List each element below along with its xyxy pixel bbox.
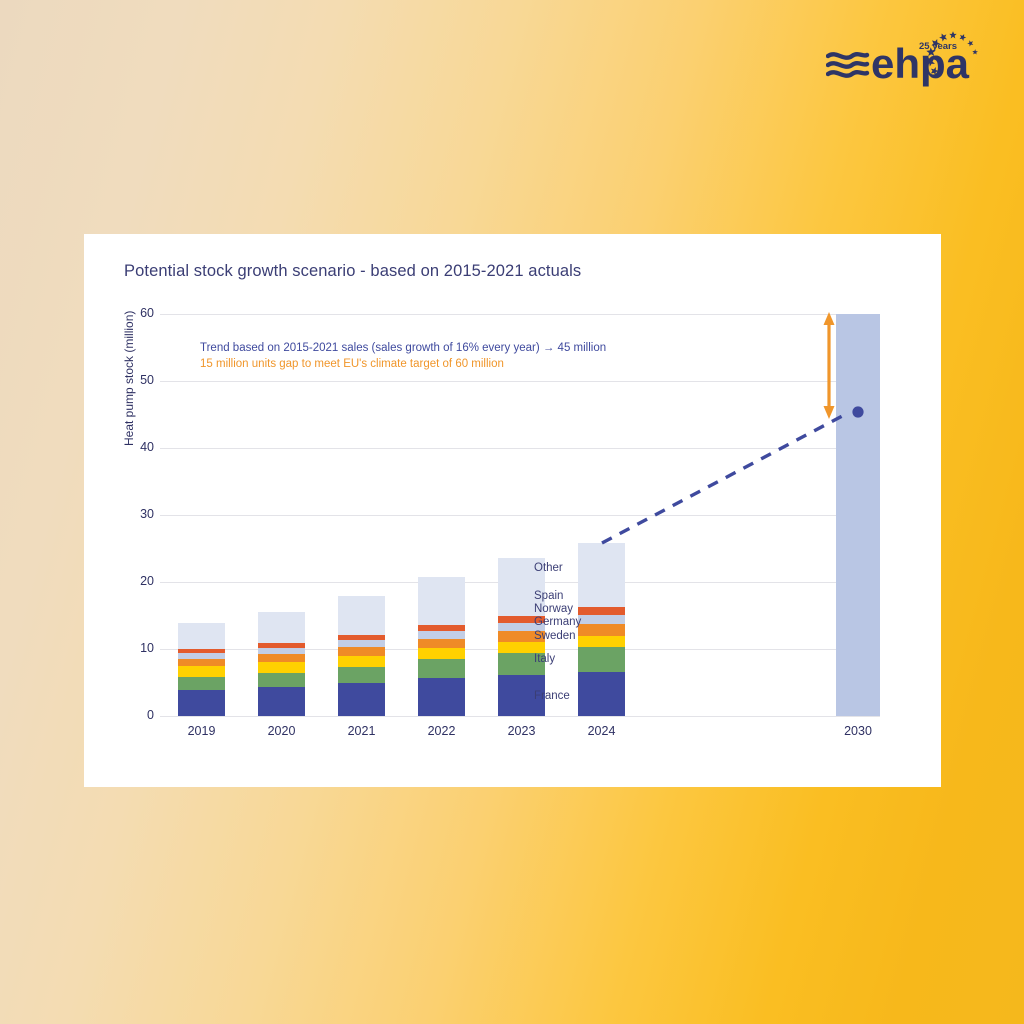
bar-2022 bbox=[418, 577, 465, 716]
segment-italy bbox=[258, 673, 305, 687]
x-tick-2024: 2024 bbox=[578, 724, 625, 738]
gridline-50 bbox=[160, 381, 880, 382]
bar-2021 bbox=[338, 596, 385, 716]
segment-sweden bbox=[338, 656, 385, 667]
chart-plot-area: Heat pump stock (million) 60 50 40 30 20… bbox=[84, 234, 941, 787]
legend-label-germany: Germany bbox=[534, 616, 581, 628]
x-tick-2021: 2021 bbox=[338, 724, 385, 738]
x-tick-2023: 2023 bbox=[498, 724, 545, 738]
legend-label-italy: Italy bbox=[534, 653, 555, 665]
y-tick-60: 60 bbox=[120, 306, 154, 320]
segment-france bbox=[178, 690, 225, 716]
bar-2019 bbox=[178, 623, 225, 716]
bar-2024 bbox=[578, 543, 625, 716]
segment-italy bbox=[418, 659, 465, 678]
segment-france bbox=[418, 678, 465, 716]
segment-france bbox=[258, 687, 305, 716]
ehpa-logo-svg: ehpa 25 years bbox=[826, 26, 984, 90]
segment-other bbox=[338, 596, 385, 635]
x-tick-2022: 2022 bbox=[418, 724, 465, 738]
x-tick-2019: 2019 bbox=[178, 724, 225, 738]
segment-sweden bbox=[578, 636, 625, 647]
segment-sweden bbox=[498, 642, 545, 653]
legend-label-other: Other bbox=[534, 562, 563, 574]
gridline-60 bbox=[160, 314, 880, 315]
wave-icon bbox=[828, 54, 867, 76]
annotation-trend: Trend based on 2015-2021 sales (sales gr… bbox=[200, 342, 606, 354]
y-tick-0: 0 bbox=[120, 708, 154, 722]
page-background: ehpa 25 years Potential stock bbox=[0, 0, 1024, 1024]
legend-label-sweden: Sweden bbox=[534, 630, 576, 642]
gridline-30 bbox=[160, 515, 880, 516]
gap-arrow bbox=[824, 312, 835, 419]
segment-france bbox=[578, 672, 625, 716]
y-tick-10: 10 bbox=[120, 641, 154, 655]
segment-spain bbox=[578, 607, 625, 615]
trend-line bbox=[602, 414, 846, 543]
segment-other bbox=[178, 623, 225, 649]
legend-label-norway: Norway bbox=[534, 603, 573, 615]
segment-france bbox=[338, 683, 385, 716]
segment-norway bbox=[418, 631, 465, 639]
y-tick-30: 30 bbox=[120, 507, 154, 521]
segment-germany bbox=[178, 659, 225, 666]
segment-sweden bbox=[418, 648, 465, 659]
segment-germany bbox=[418, 639, 465, 648]
segment-sweden bbox=[258, 662, 305, 673]
segment-other bbox=[418, 577, 465, 625]
gridline-0 bbox=[160, 716, 880, 717]
logo-anniversary: 25 years bbox=[919, 41, 957, 52]
segment-germany bbox=[338, 647, 385, 656]
chart-card: Potential stock growth scenario - based … bbox=[84, 234, 941, 787]
x-tick-2030: 2030 bbox=[836, 724, 880, 738]
x-tick-2020: 2020 bbox=[258, 724, 305, 738]
segment-italy bbox=[338, 667, 385, 683]
segment-norway bbox=[338, 640, 385, 647]
annotation-gap: 15 million units gap to meet EU's climat… bbox=[200, 358, 504, 370]
segment-italy bbox=[178, 677, 225, 690]
gridline-40 bbox=[160, 448, 880, 449]
y-tick-20: 20 bbox=[120, 574, 154, 588]
legend-label-spain: Spain bbox=[534, 590, 563, 602]
segment-sweden bbox=[178, 666, 225, 677]
segment-germany bbox=[578, 624, 625, 636]
y-tick-50: 50 bbox=[120, 373, 154, 387]
segment-other bbox=[258, 612, 305, 643]
segment-norway bbox=[578, 615, 625, 624]
segment-italy bbox=[578, 647, 625, 672]
legend-label-france: France bbox=[534, 690, 570, 702]
ehpa-logo: ehpa 25 years bbox=[826, 26, 984, 90]
segment-other bbox=[578, 543, 625, 607]
y-tick-40: 40 bbox=[120, 440, 154, 454]
segment-germany bbox=[258, 654, 305, 662]
bar-2030-target bbox=[836, 314, 880, 716]
bar-2020 bbox=[258, 612, 305, 716]
